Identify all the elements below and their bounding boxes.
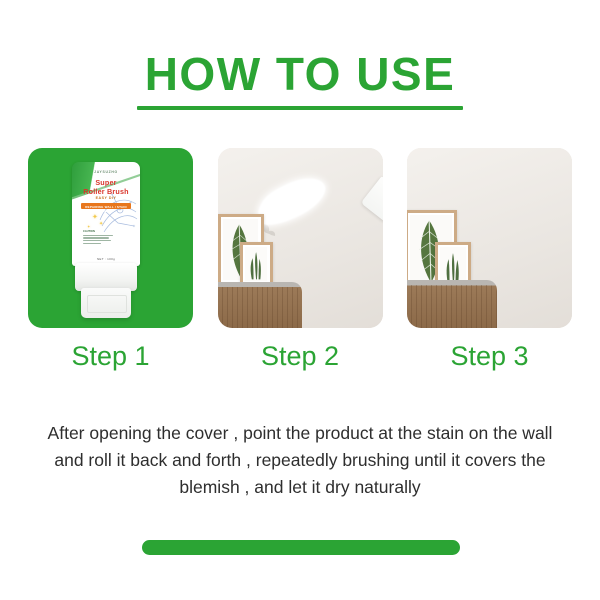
- wooden-sideboard: [407, 280, 497, 328]
- product-tube: JAYSUZHO Super Roller Brush EASY DIY REP…: [64, 162, 148, 318]
- tube-neck: [75, 263, 137, 291]
- tube-label: JAYSUZHO Super Roller Brush EASY DIY REP…: [72, 162, 140, 266]
- step-1-label: Step 1: [28, 340, 193, 372]
- tube-net-weight: NET : 100g: [72, 257, 140, 261]
- title-underline: [137, 106, 463, 110]
- step-3-label: Step 3: [407, 340, 572, 372]
- step-2-image: [218, 148, 383, 328]
- sparkle-icon: ✦: [99, 222, 103, 227]
- tube-brand: JAYSUZHO: [72, 171, 140, 174]
- page-title: HOW TO USE: [0, 48, 600, 100]
- sparkle-icon: ✦: [87, 225, 90, 229]
- tube-roller-head: [81, 288, 131, 318]
- tube-subtitle: EASY DIY: [72, 197, 140, 201]
- tube-info-line: [83, 240, 111, 241]
- footer-accent-bar: [142, 540, 460, 555]
- steps-image-row: JAYSUZHO Super Roller Brush EASY DIY REP…: [28, 148, 572, 328]
- step-labels-row: Step 1 Step 2 Step 3: [28, 340, 572, 372]
- wooden-sideboard: [218, 282, 302, 328]
- tube-name-line2: Roller Brush: [72, 188, 140, 195]
- title-block: HOW TO USE: [0, 48, 600, 110]
- sparkle-icon: ✦: [92, 214, 98, 221]
- tube-info-line: [83, 243, 101, 244]
- instructions-paragraph: After opening the cover , point the prod…: [45, 420, 555, 501]
- room-scene: [407, 148, 572, 328]
- how-to-use-infographic: HOW TO USE: [0, 0, 600, 600]
- step-3-image: [407, 148, 572, 328]
- tube-banner-text: REPAIRING WALL / STAIN REMOVAL: [81, 205, 131, 213]
- step-2-label: Step 2: [218, 340, 383, 372]
- leaf-print-icon: [245, 247, 268, 281]
- tube-info-line: [83, 237, 109, 238]
- tube-info-line: [83, 235, 113, 236]
- tube-info-block: CAUTION: [83, 230, 115, 246]
- room-scene: [218, 148, 383, 328]
- step-1-image: JAYSUZHO Super Roller Brush EASY DIY REP…: [28, 148, 193, 328]
- tube-info-heading: CAUTION: [83, 230, 115, 233]
- tube-name-line1: Super: [72, 179, 140, 186]
